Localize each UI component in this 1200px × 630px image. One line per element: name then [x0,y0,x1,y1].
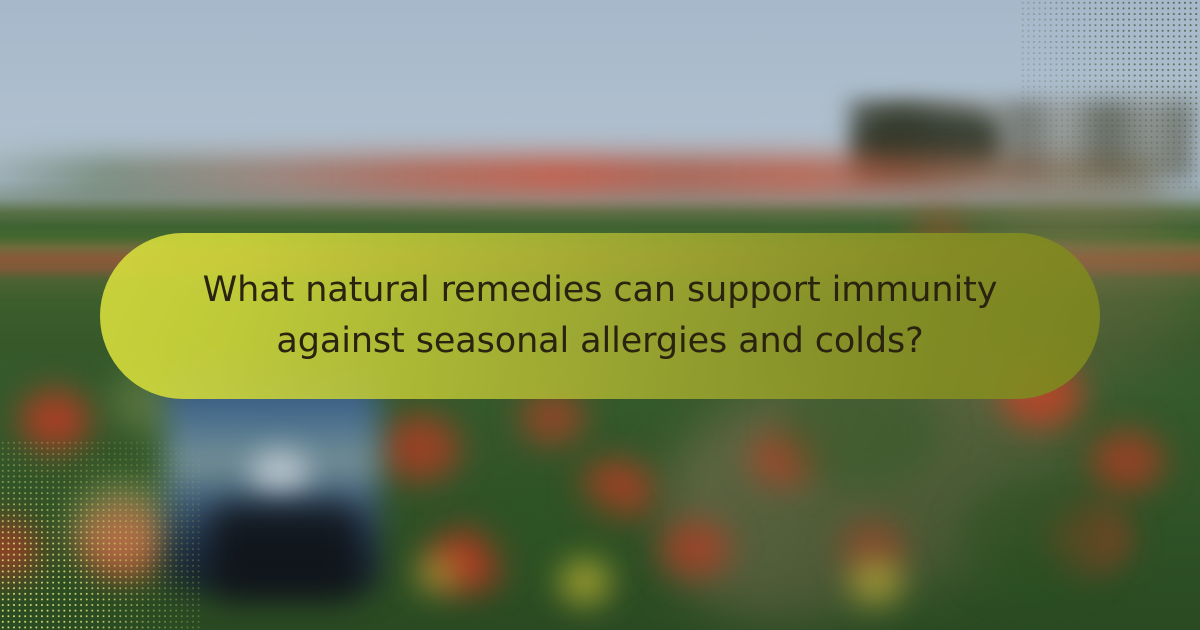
distant-tulip-rows [0,156,1160,196]
tulip-blob [20,390,90,450]
foliage-blob [960,480,1110,595]
social-card-canvas: What natural remedies can support immuni… [0,0,1200,630]
question-text: What natural remedies can support immuni… [154,265,1046,367]
yellow-flower-blob [560,560,610,604]
tulip-blob [660,520,730,578]
foliage-highlight [70,480,180,570]
yellow-flower-blob [415,555,459,593]
tulip-blob [380,415,460,481]
question-card: What natural remedies can support immuni… [100,233,1100,399]
yellow-flower-blob [850,560,902,604]
field-figure-shadow [210,505,360,600]
field-figure-highlight [250,450,310,496]
tulip-blob [1090,430,1164,492]
